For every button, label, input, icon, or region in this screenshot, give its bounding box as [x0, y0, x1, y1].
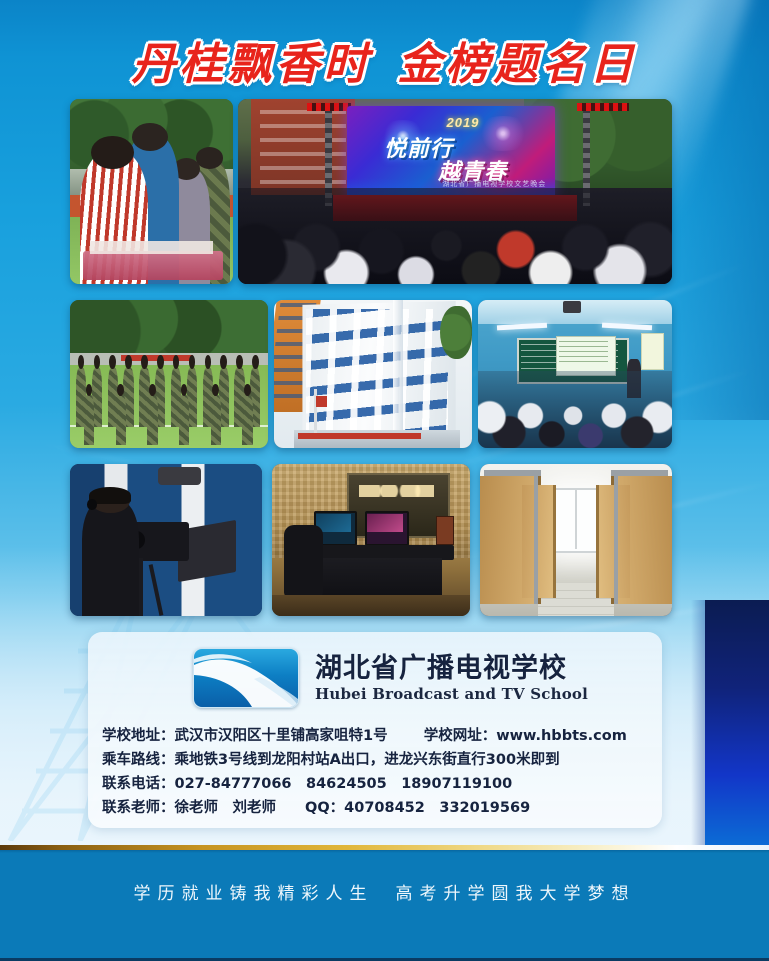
footer-slogan-right: 高考升学圆我大学梦想: [396, 884, 636, 904]
gold-divider-shadow: [0, 850, 769, 853]
footer-slogan-left: 学历就业铸我精彩人生: [134, 884, 374, 904]
swoosh-road-logo-icon: [193, 648, 299, 708]
photo-stage-performance: 2019 悦前行 越青春 湖北省广播电视学校文艺晚会: [238, 99, 672, 284]
contact-phone: 联系电话：027-84777066 84624505 18907119100: [102, 772, 658, 796]
photo-editing-studio: [272, 464, 470, 616]
contact-route: 乘车路线：乘地铁3号线到龙阳村站A出口，进龙兴东街直行300米即到: [102, 748, 658, 772]
contact-address: 学校地址：武汉市汉阳区十里铺高家咀特1号: [102, 728, 388, 744]
photo-award-ceremony: [70, 99, 233, 284]
photo-classroom: [478, 300, 672, 448]
contact-website[interactable]: 学校网址：www.hbbts.com: [424, 728, 627, 744]
contact-details: 学校地址：武汉市汉阳区十里铺高家咀特1号 学校网址：www.hbbts.com …: [102, 724, 658, 820]
photo-camera-studio: [70, 464, 262, 616]
footer-band: [0, 850, 769, 961]
footer-slogan: 学历就业铸我精彩人生高考升学圆我大学梦想: [0, 879, 769, 904]
school-name-en: Hubei Broadcast and TV School: [315, 687, 588, 702]
contact-address-line: 学校地址：武汉市汉阳区十里铺高家咀特1号 学校网址：www.hbbts.com: [102, 724, 658, 748]
photo-school-building: [274, 300, 472, 448]
contact-teachers: 联系老师：徐老师 刘老师 QQ：40708452 332019569: [102, 796, 658, 820]
photo-dormitory: [480, 464, 672, 616]
school-name-cn: 湖北省广播电视学校: [315, 655, 588, 682]
school-identity: 湖北省广播电视学校 Hubei Broadcast and TV School: [193, 648, 588, 708]
contact-card: 湖北省广播电视学校 Hubei Broadcast and TV School …: [88, 632, 662, 828]
stage-screen-year: 2019: [446, 115, 479, 130]
photo-military-training: [70, 300, 268, 448]
